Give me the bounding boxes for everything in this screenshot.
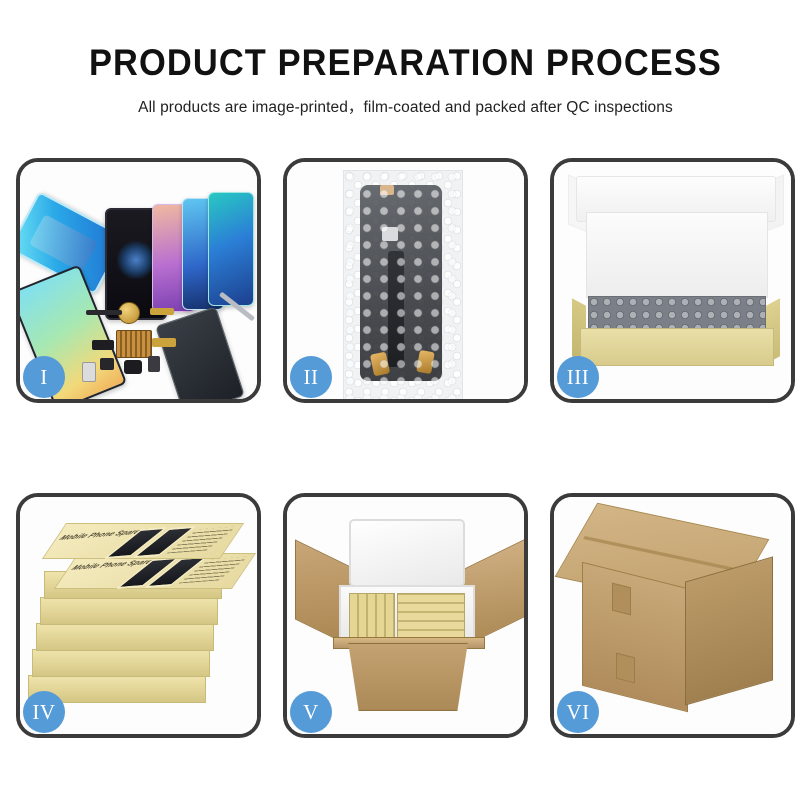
page-header: PRODUCT PREPARATION PROCESS All products… [0,0,811,117]
process-grid: I II [16,158,795,738]
flex-cable-2 [150,308,174,315]
gold-packs-right [397,593,465,639]
stacked-box-lid-1: Mobile Phone Spare Parts [42,523,244,559]
process-step-3[interactable]: III [550,158,795,403]
stacked-box-3 [40,597,218,625]
step-badge-1: I [23,356,65,398]
phone-back-housing [155,306,245,399]
gold-packs-left [349,593,395,639]
bubble-wrap-bag [343,170,463,399]
sim-tray-part [82,362,96,382]
process-step-2[interactable]: II [283,158,528,403]
step-badge-2: II [290,356,332,398]
page-title: PRODUCT PREPARATION PROCESS [28,44,782,81]
carton-tape-lower [616,653,635,684]
gold-box-front [580,328,774,366]
carton-side-face [685,556,773,705]
step-badge-4: IV [23,691,65,733]
process-step-6[interactable]: VI [550,493,795,738]
white-foam-sheet [586,212,768,298]
flex-cable-4 [152,338,176,347]
carton-front-face [582,562,688,712]
process-step-4[interactable]: Mobile Phone Spare Parts Mobile Phone Sp… [16,493,261,738]
step-badge-6: VI [557,691,599,733]
teal-gradient-phone [208,192,254,306]
small-part-2 [124,360,142,374]
process-step-1[interactable]: I [16,158,261,403]
carton-front-panel [343,643,473,711]
small-part-3 [148,356,160,372]
carton-tape-upper [612,583,631,616]
step-badge-3: III [557,356,599,398]
process-step-5[interactable]: V [283,493,528,738]
step-badge-5: V [290,691,332,733]
flex-cable-3 [92,340,114,350]
bubble-texture-overlay [344,171,462,399]
bubble-wrapped-contents [588,296,766,330]
page-subtitle: All products are image-printed，film-coat… [0,95,811,117]
small-part-1 [100,358,114,370]
chip-grid-component [116,330,152,358]
stacked-box-4 [36,623,214,651]
stacked-box-5 [32,649,210,677]
flex-cable-1 [86,310,122,315]
foam-cooler-lid [349,519,465,587]
